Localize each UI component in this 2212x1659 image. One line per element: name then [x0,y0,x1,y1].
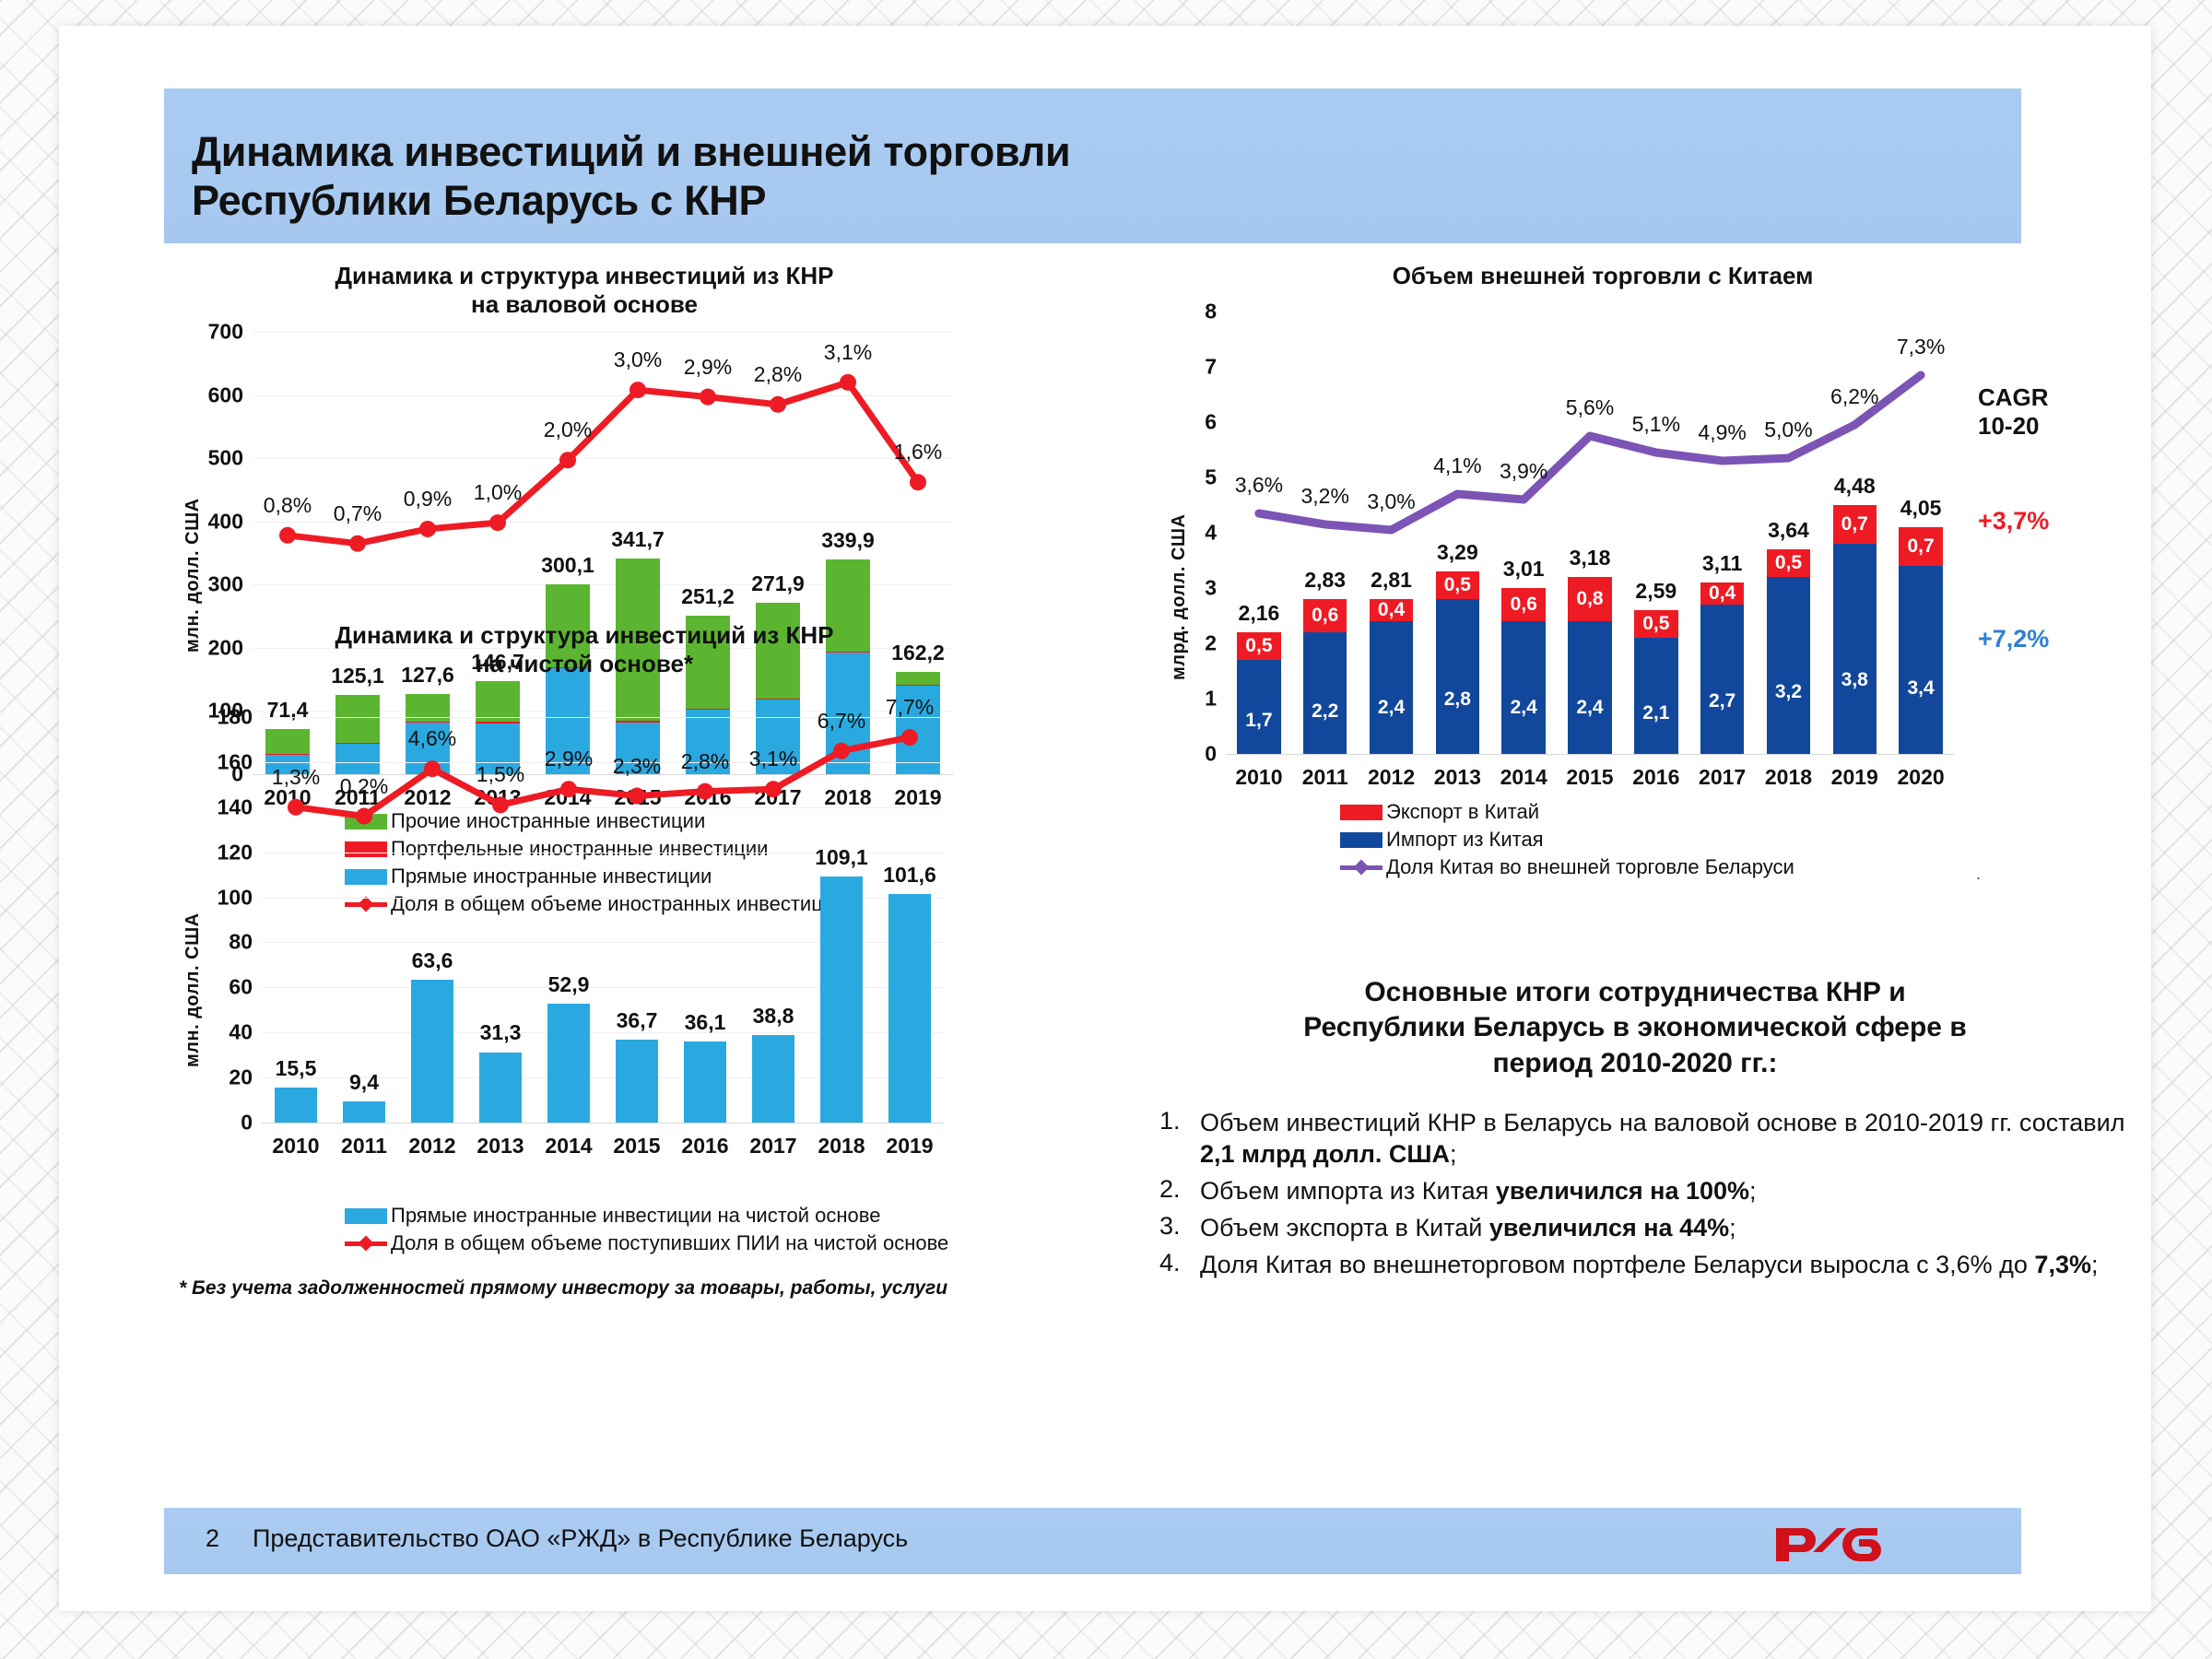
net-share-percent-label: 1,3% [272,765,320,790]
y-axis-tick: 40 [179,1020,253,1045]
share-percent-label: 0,9% [404,487,452,512]
y-axis-tick: 400 [173,509,243,534]
net-share-percent-label: 2,9% [545,747,593,771]
cagr-export-value: +3,7% [1978,507,2049,535]
y-axis-tick: 80 [179,930,253,955]
legend-swatch [1340,805,1382,820]
net-share-percent-label: 2,8% [681,749,729,774]
net-share-percent-label: 2,3% [613,754,661,779]
share-percent-label: 2,9% [684,355,732,380]
chart3-footnote: * Без учета задолженностей прямому инвес… [179,1277,947,1300]
summary-item-text: Доля Китая во внешнеторговом портфеле Бе… [1200,1249,2098,1280]
x-axis-tick: 2014 [1500,765,1547,790]
y-axis-tick: 3 [1159,576,1217,601]
header-band: Динамика инвестиций и внешней торговли Р… [164,88,2021,243]
china-share-percent-label: 3,9% [1500,459,1547,484]
legend-label: Экспорт в Китай [1386,800,1539,824]
y-axis-tick: 600 [173,382,243,407]
x-axis-tick: 2014 [545,1134,592,1159]
y-axis-tick: 7 [1159,355,1217,380]
summary-list-item: 3.Объем экспорта в Китай увеличился на 4… [1159,1212,2136,1243]
y-axis-tick: 1 [1159,687,1217,712]
page-title: Динамика инвестиций и внешней торговли Р… [192,127,1070,225]
y-axis-tick: 2 [1159,631,1217,656]
china-share-percent-label: 4,9% [1698,420,1746,445]
x-axis-tick: 2011 [341,1134,387,1159]
chart3-plot-area: 02040608010012014016018015,520109,420116… [262,717,944,1123]
china-share-percent-label: 3,6% [1235,473,1283,498]
summary-list: 1.Объем инвестиций КНР в Беларусь на вал… [1159,1107,2136,1280]
share-percent-label: 2,0% [544,418,592,442]
y-axis-tick: 8 [1159,300,1217,324]
cagr-title: CAGR 10-20 [1978,383,2049,441]
x-axis-tick: 2011 [1302,765,1348,790]
x-axis-tick: 2020 [1897,765,1944,790]
china-share-percent-label: 5,6% [1566,395,1614,420]
net-share-percent-label: 0,2% [340,774,388,799]
x-axis-tick: 2016 [1632,765,1679,790]
summary-item-number: 1. [1159,1107,1200,1170]
y-axis-tick: 4 [1159,521,1217,546]
chart2-legend: Экспорт в КитайИмпорт из КитаяДоля Китая… [1340,800,1794,883]
chart-net-investments: Динамика и структура инвестиций из КНР н… [170,616,999,1298]
chart2-plot-area: 0123456781,70,52,1620102,20,62,8320112,4… [1226,312,1954,754]
legend-item: Экспорт в Китай [1340,800,1794,824]
slide-page: Динамика инвестиций и внешней торговли Р… [0,0,2212,1659]
y-axis-tick: 300 [173,572,243,597]
chart-foreign-trade: Объем внешней торговли с Китаем млрд. до… [1156,256,2188,901]
x-axis-tick: 2010 [272,1134,319,1159]
x-axis-tick: 2018 [818,1134,865,1159]
china-share-percent-label: 5,1% [1632,412,1680,437]
y-axis-tick: 120 [179,840,253,865]
net-share-percent-label: 1,5% [477,762,524,787]
stray-mark: . [1976,865,1981,884]
legend-item: Доля Китая во внешней торговле Беларуси [1340,855,1794,879]
summary-item-number: 4. [1159,1249,1200,1280]
summary-item-text: Объем импорта из Китая увеличился на 100… [1200,1175,1757,1206]
share-percent-label: 3,1% [824,340,872,365]
y-axis-tick: 0 [179,1111,253,1135]
x-axis-tick: 2018 [1765,765,1812,790]
summary-item-highlight: 7,3% [2034,1251,2091,1278]
share-percent-label: 3,0% [614,347,662,372]
cagr-import-value: +7,2% [1978,625,2049,653]
share-percent-label: 2,8% [754,362,802,387]
summary-item-number: 3. [1159,1212,1200,1243]
page-number: 2 [206,1524,219,1553]
x-axis-tick: 2013 [477,1134,524,1159]
china-share-percent-label: 3,0% [1367,489,1415,514]
legend-label: Доля в общем объеме поступивших ПИИ на ч… [391,1231,948,1255]
legend-label: Доля Китая во внешней торговле Беларуси [1386,855,1794,879]
x-axis-tick: 2015 [613,1134,660,1159]
china-share-percent-label: 3,2% [1301,484,1349,509]
net-share-percent-label: 6,7% [818,709,865,734]
y-axis-tick: 500 [173,446,243,471]
x-axis-tick: 2010 [1235,765,1282,790]
x-axis-tick: 2013 [1434,765,1481,790]
y-axis-tick: 6 [1159,410,1217,435]
summary-item-text: Объем экспорта в Китай увеличился на 44%… [1200,1212,1736,1243]
gridline [262,1123,944,1124]
x-axis-tick: 2019 [886,1134,933,1159]
chart2-title: Объем внешней торговли с Китаем [1156,262,2188,290]
summary-item-highlight: увеличился на 44% [1489,1214,1729,1241]
net-share-percent-label: 7,7% [886,695,934,720]
net-share-percent-label: 3,1% [749,747,797,771]
footer-text: Представительство ОАО «РЖД» в Республике… [253,1524,908,1553]
x-axis-tick: 2016 [681,1134,728,1159]
summary-list-item: 2.Объем импорта из Китая увеличился на 1… [1159,1175,2136,1206]
legend-item: Доля в общем объеме поступивших ПИИ на ч… [345,1231,948,1255]
summary-block: Основные итоги сотрудничества КНР и Респ… [1147,975,2179,1260]
y-axis-tick: 5 [1159,465,1217,490]
rzd-logo-icon [1772,1519,1883,1563]
chart3-title: Динамика и структура инвестиций из КНР н… [170,621,999,678]
summary-title: Основные итоги сотрудничества КНР и Респ… [1147,975,2124,1081]
legend-item: Прямые иностранные инвестиции на чистой … [345,1204,948,1228]
legend-marker-icon [359,1235,374,1251]
summary-item-highlight: 2,1 млрд долл. США [1200,1140,1450,1168]
china-share-line-series [1226,312,1954,754]
legend-label: Импорт из Китая [1386,828,1544,852]
legend-marker-icon [1354,859,1370,875]
x-axis-tick: 2017 [1699,765,1746,790]
y-axis-tick: 700 [173,320,243,345]
legend-item: Импорт из Китая [1340,828,1794,852]
x-axis-tick: 2012 [408,1134,455,1159]
summary-list-item: 1.Объем инвестиций КНР в Беларусь на вал… [1159,1107,2136,1170]
share-percent-label: 0,7% [334,501,382,526]
y-axis-tick: 160 [179,749,253,774]
x-axis-tick: 2017 [749,1134,796,1159]
axis-line [1226,754,1954,755]
china-share-percent-label: 4,1% [1433,453,1481,478]
y-axis-tick: 100 [179,885,253,910]
summary-list-item: 4.Доля Китая во внешнеторговом портфеле … [1159,1249,2136,1280]
summary-item-number: 2. [1159,1175,1200,1206]
footer-band: 2 Представительство ОАО «РЖД» в Республи… [164,1508,2021,1574]
summary-item-text: Объем инвестиций КНР в Беларусь на валов… [1200,1107,2136,1170]
slide-canvas: Динамика инвестиций и внешней торговли Р… [59,26,2151,1611]
y-axis-tick: 60 [179,975,253,1000]
y-axis-tick: 20 [179,1065,253,1090]
share-percent-label: 0,8% [264,493,312,518]
share-percent-label: 1,0% [474,480,522,505]
legend-line-swatch [345,1236,387,1252]
x-axis-tick: 2012 [1368,765,1415,790]
x-axis-tick: 2019 [1831,765,1878,790]
y-axis-tick: 140 [179,794,253,819]
china-share-percent-label: 5,0% [1764,418,1812,442]
chart1-title: Динамика и структура инвестиций из КНР н… [170,262,999,319]
china-share-percent-label: 7,3% [1897,335,1945,359]
y-axis-tick: 180 [179,705,253,730]
legend-label: Прямые иностранные инвестиции на чистой … [391,1204,880,1228]
legend-swatch [1340,832,1382,848]
net-share-percent-label: 4,6% [408,726,456,751]
legend-swatch [345,1208,387,1224]
x-axis-tick: 2015 [1566,765,1613,790]
share-percent-label: 1,6% [894,440,942,465]
y-axis-tick: 0 [1159,742,1217,767]
summary-item-highlight: увеличился на 100% [1496,1177,1749,1205]
legend-line-swatch [1340,860,1382,876]
china-share-percent-label: 6,2% [1830,384,1878,409]
chart3-legend: Прямые иностранные инвестиции на чистой … [345,1204,948,1259]
